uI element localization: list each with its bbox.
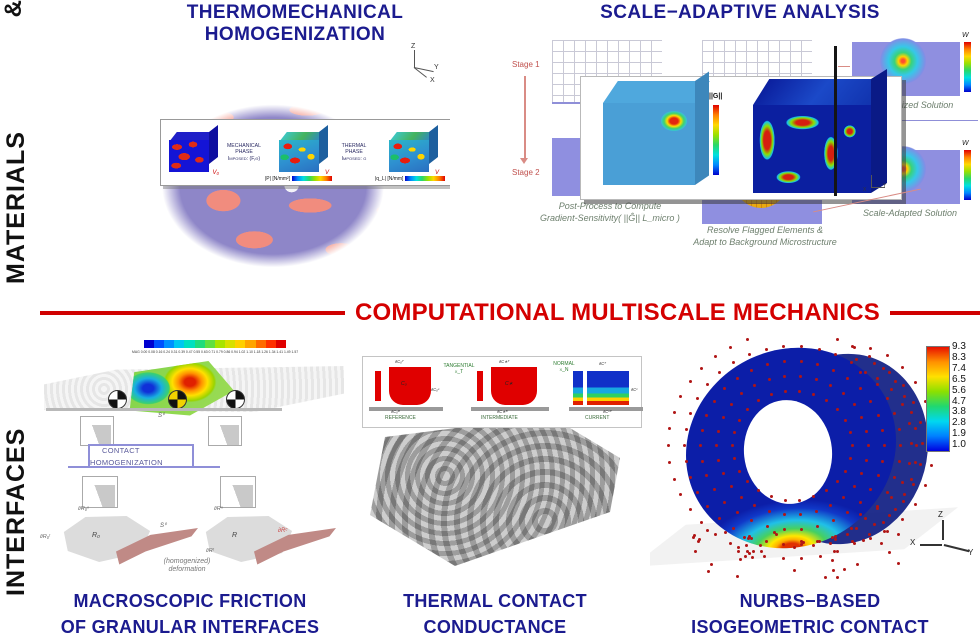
control-point: [865, 459, 868, 462]
control-point: [898, 428, 901, 431]
panel-thermomechanical-homogenization: Z Y X V₀ MECHANICAL PHASE Imposed: (F,θ): [100, 26, 450, 291]
control-point: [831, 559, 834, 562]
contact-pressure-colorbar: [144, 340, 286, 348]
control-point: [910, 411, 913, 414]
nurbs-colorbar-tick: 1.0: [952, 440, 980, 451]
stage-flow-arrow-icon: [524, 76, 526, 160]
control-point: [869, 400, 872, 403]
mechanical-units-label: |P| [N/mm²]: [265, 176, 290, 182]
control-point: [815, 378, 818, 381]
axis-label-y-2: Y: [883, 183, 886, 189]
rve-reference-volume-label: V₀: [212, 170, 219, 176]
control-point: [894, 508, 897, 511]
control-point: [924, 484, 927, 487]
mechanical-response-cube: [275, 132, 327, 174]
control-point: [793, 569, 796, 572]
title-nurbs-isogeometric-contact: NURBS−BASED ISOGEOMETRIC CONTACT: [650, 588, 970, 640]
bt1-line2: OF GRANULAR INTERFACES: [40, 614, 340, 640]
control-point: [851, 444, 854, 447]
label-intermediate: INTERMEDIATE: [481, 415, 518, 421]
control-point: [853, 485, 856, 488]
control-point: [784, 390, 787, 393]
control-point: [729, 346, 732, 349]
stage-2-label: Stage 2: [512, 168, 540, 177]
label-contact: CONTACT: [102, 446, 140, 455]
control-point: [919, 421, 922, 424]
control-point: [836, 408, 839, 411]
axis-label-z-nurbs: Z: [938, 510, 943, 519]
bt1-line1: MACROSCOPIC FRICTION: [40, 588, 340, 614]
control-point: [893, 412, 896, 415]
control-point: [898, 460, 901, 463]
control-point: [713, 400, 716, 403]
control-point: [717, 459, 720, 462]
boundary-cur-t-label: ∂Rᵗ: [206, 548, 214, 554]
control-point: [899, 444, 902, 447]
panel-scale-adaptive-analysis: Stage 1 Stage 2 ■■■■■■■■■■■■ Post-Proces…: [512, 28, 980, 288]
control-point: [815, 510, 818, 513]
zoom-card-cubes: ||G|| Y X: [580, 76, 902, 200]
thermal-line3: Imposed: g: [327, 156, 381, 163]
title-scale-adaptive-analysis: SCALE−ADAPTIVE ANALYSIS: [555, 2, 925, 24]
control-point: [910, 478, 913, 481]
control-point: [744, 555, 747, 558]
micro-response-chart-left: [80, 416, 114, 446]
control-point: [800, 528, 803, 531]
control-point: [867, 444, 870, 447]
control-point: [692, 536, 695, 539]
control-point: [834, 538, 837, 541]
rough-surface-render: [370, 416, 620, 566]
control-point: [876, 507, 879, 510]
control-point: [733, 457, 736, 460]
reference-left-block: [375, 371, 381, 401]
axis-label-x: X: [430, 77, 435, 84]
title-thermal-contact-conductance: THERMAL CONTACT CONDUCTANCE: [360, 588, 630, 640]
control-point: [818, 348, 821, 351]
map-tangential-line2: χ_T: [439, 369, 479, 375]
control-point: [836, 338, 839, 341]
control-point: [856, 563, 859, 566]
micro-profile-chart-left: [82, 476, 118, 508]
rve-two-phase-cube: [165, 132, 217, 174]
bt2-line2: CONDUCTANCE: [360, 614, 630, 640]
axis-label-x-2: X: [863, 187, 866, 193]
control-point: [766, 363, 769, 366]
control-point: [768, 510, 771, 513]
control-point: [746, 338, 749, 341]
control-point: [722, 416, 725, 419]
control-point: [914, 461, 917, 464]
control-point: [723, 501, 726, 504]
control-point: [883, 444, 886, 447]
control-point: [886, 354, 889, 357]
control-point: [919, 463, 922, 466]
control-point: [694, 550, 697, 553]
bt3-line1: NURBS−BASED: [650, 588, 970, 614]
control-point: [888, 551, 891, 554]
control-point: [748, 353, 751, 356]
control-point: [908, 422, 911, 425]
panel-separator-bar: [834, 46, 837, 196]
control-point: [869, 537, 872, 540]
boundary-ref-t-label: ∂R₀ᵗ: [40, 534, 50, 540]
caption-post-process: Post-Process to Compute Gradient-Sensiti…: [520, 200, 700, 224]
control-point: [819, 555, 822, 558]
surface-ref-label: S⁰: [158, 412, 164, 419]
homogenized-colorbar-title: W: [962, 32, 969, 39]
control-point: [673, 411, 676, 414]
panel-nurbs-isogeometric-contact: 9.38.37.46.55.64.73.82.81.91.0 Z X Y: [650, 338, 980, 582]
control-point: [800, 557, 803, 560]
thermal-units-label: |q_L| [N/mm]: [375, 176, 403, 182]
control-point: [736, 511, 739, 514]
control-point: [894, 380, 897, 383]
control-point: [679, 395, 682, 398]
control-point: [751, 556, 754, 559]
control-point: [714, 355, 717, 358]
axis-triad-icon-right: Y X: [861, 173, 895, 195]
axis-label-y: Y: [434, 64, 439, 71]
domain-cur-label: R: [232, 532, 237, 539]
control-point: [685, 460, 688, 463]
adapted-colorbar-title: W: [962, 140, 969, 147]
control-point: [765, 540, 768, 543]
control-point: [890, 388, 893, 391]
control-point: [738, 419, 741, 422]
stage-flow-arrowhead-icon: [520, 158, 528, 164]
control-point: [784, 499, 787, 502]
grain-beachball-2-icon: [168, 390, 187, 409]
control-point: [914, 381, 917, 384]
control-point: [706, 505, 709, 508]
control-point: [757, 399, 760, 402]
control-point: [689, 508, 692, 511]
surface-cur-label: ∂Rᶜ: [278, 528, 287, 534]
deformation-line2: deformation: [132, 566, 242, 574]
panel-macroscopic-friction: MAG 0.00 0.08 0.16 0.24 0.31 0.39 0.47 0…: [40, 336, 350, 581]
bnd-ref-bot-label: ∂C₀ᴮ: [391, 409, 400, 414]
mechanical-colorbar: |P| [N/mm²]: [265, 176, 355, 182]
control-point: [890, 496, 893, 499]
bnd-int-top-label: ∂C∗ᵀ: [499, 359, 509, 364]
caption-pp-line2: Gradient-Sensitivity( ||Ĝ|| L_micro ): [520, 212, 700, 224]
control-point: [685, 428, 688, 431]
grain-beachball-1-icon: [108, 390, 127, 409]
control-point: [731, 444, 734, 447]
current-body-field: [587, 371, 629, 405]
control-point: [701, 460, 704, 463]
stage-1-label: Stage 1: [512, 60, 540, 69]
surface-ref-label-2: S⁰: [160, 522, 166, 529]
control-point: [689, 476, 692, 479]
control-point: [902, 500, 905, 503]
control-point: [886, 530, 889, 533]
control-point: [901, 403, 904, 406]
control-point: [869, 347, 872, 350]
control-point: [800, 360, 803, 363]
control-point: [768, 378, 771, 381]
banner-rule-right: [890, 311, 980, 315]
control-point: [760, 550, 763, 553]
bt2-line1: THERMAL CONTACT: [360, 588, 630, 614]
micro-response-chart-right: [208, 416, 242, 446]
control-point: [689, 412, 692, 415]
control-point: [908, 462, 911, 465]
control-point: [718, 517, 721, 520]
control-point: [876, 377, 879, 380]
control-point: [746, 408, 749, 411]
axis-label-y-nurbs: Y: [968, 548, 973, 557]
mech-line3: Imposed: (F,θ): [217, 156, 271, 163]
control-point: [783, 528, 786, 531]
control-point: [901, 366, 904, 369]
thermal-colorbar-gradient: [405, 176, 445, 181]
control-point: [782, 543, 785, 546]
control-point: [689, 380, 692, 383]
homogenization-arrow-right-icon: [192, 444, 194, 466]
control-point: [877, 414, 880, 417]
control-point: [843, 568, 846, 571]
map-tangential: TANGENTIAL χ_T: [439, 363, 479, 375]
control-point: [829, 384, 832, 387]
control-point: [765, 348, 768, 351]
control-point: [743, 536, 746, 539]
control-point: [732, 361, 735, 364]
control-point: [783, 360, 786, 363]
body-ref-label: C₀: [401, 381, 407, 387]
bnd-cur-top-label: ∂Cᵀ: [599, 361, 606, 366]
boundary-ref-n-label: ∂R₀ⁿ: [78, 506, 89, 512]
control-point: [853, 403, 856, 406]
control-point: [912, 483, 915, 486]
section-label-materials: MATERIALS: [2, 48, 31, 284]
control-point: [915, 444, 918, 447]
banner-rule-left: [40, 311, 345, 315]
axis-triad-icon: Z Y X: [400, 44, 444, 84]
title-macroscopic-friction: MACROSCOPIC FRICTION OF GRANULAR INTERFA…: [40, 588, 340, 640]
control-point: [740, 496, 743, 499]
control-point: [910, 442, 913, 445]
control-point: [706, 529, 709, 532]
control-point: [882, 367, 885, 370]
caption-homogenized-deformation: (homogenized) deformation: [132, 558, 242, 574]
domain-ref-label: R₀: [92, 532, 100, 539]
control-point: [733, 431, 736, 434]
section-label-ampersand: &: [0, 0, 28, 17]
control-point: [836, 576, 839, 579]
control-point: [770, 393, 773, 396]
control-point: [683, 444, 686, 447]
control-point: [799, 375, 802, 378]
caption-pp-line1: Post-Process to Compute: [520, 200, 700, 212]
macro-contact-line: [46, 408, 282, 411]
control-point: [707, 570, 710, 573]
control-point: [710, 563, 713, 566]
bnd-int-bot-label: ∂C∗ᴮ: [497, 409, 508, 414]
reference-rigid-base: [369, 407, 443, 411]
homogenization-bracket-2: [68, 466, 220, 468]
control-point: [722, 472, 725, 475]
bnd-ref-side-label: ∂C₀ᶜ: [431, 387, 439, 392]
control-point: [759, 544, 762, 547]
control-point: [864, 517, 867, 520]
label-current: CURRENT: [585, 415, 609, 421]
macro-cube-hotspot: [661, 111, 687, 131]
contact-configurations-card: REFERENCE C₀ ∂C₀ᵀ ∂C₀ᶜ ∂C₀ᴮ TANGENTIAL χ…: [362, 356, 642, 428]
control-point: [832, 569, 835, 572]
intermediate-body-block: [491, 367, 537, 405]
control-point: [873, 523, 876, 526]
grain-beachball-3-icon: [226, 390, 245, 409]
arrow-to-homogenized-icon: [838, 66, 850, 67]
control-point: [696, 397, 699, 400]
body-int-label: C∗: [505, 381, 513, 387]
caption-scale-adapted-solution: Scale-Adapted Solution: [848, 208, 972, 218]
micro-profile-chart-right: [220, 476, 256, 508]
label-reference: REFERENCE: [385, 415, 416, 421]
axis-triad-icon-nurbs: Z X Y: [918, 514, 976, 568]
control-point: [714, 533, 717, 536]
caption-rf-line1: Resolve Flagged Elements &: [690, 224, 840, 236]
control-point: [930, 464, 933, 467]
control-point: [873, 362, 876, 365]
intermediate-rigid-base: [471, 407, 549, 411]
control-point: [739, 558, 742, 561]
control-point: [673, 478, 676, 481]
axis-label-x-nurbs: X: [910, 538, 915, 547]
nurbs-colorbar: [926, 346, 950, 452]
control-point: [782, 557, 785, 560]
control-point: [865, 430, 868, 433]
nurbs-colorbar-tick: 6.5: [952, 375, 980, 386]
mechanical-colorbar-gradient: [292, 176, 332, 181]
control-point: [736, 575, 739, 578]
control-point: [701, 429, 704, 432]
boundary-cur-n-label: ∂Rⁿ: [214, 506, 223, 512]
current-left-field: [573, 371, 583, 405]
bnd-cur-side-label: ∂Cᶜ: [631, 387, 638, 392]
control-point: [914, 427, 917, 430]
control-point: [737, 546, 740, 549]
gradient-norm-colorbar-title: ||G||: [709, 93, 722, 100]
control-point: [732, 527, 735, 530]
control-point: [793, 546, 796, 549]
control-point: [831, 536, 834, 539]
colorbar-tick-values: 0.00 0.08 0.16 0.24 0.31 0.39 0.47 0.55 …: [141, 350, 298, 354]
control-point: [706, 383, 709, 386]
control-point: [667, 444, 670, 447]
control-point: [825, 399, 828, 402]
control-point: [859, 501, 862, 504]
control-point: [880, 542, 883, 545]
control-point: [844, 470, 847, 473]
control-point: [738, 470, 741, 473]
banner-computational-multiscale-mechanics: COMPUTATIONAL MULTISCALE MECHANICS: [40, 295, 980, 331]
control-point: [736, 377, 739, 380]
caption-resolve-flagged: Resolve Flagged Elements & Adapt to Back…: [690, 224, 840, 248]
poster-root: MATERIALS & INTERFACES THERMOMECHANICAL …: [0, 0, 980, 637]
control-point: [700, 367, 703, 370]
colorbar-title: MAG: [132, 350, 140, 354]
control-point: [705, 414, 708, 417]
banner-text: COMPUTATIONAL MULTISCALE MECHANICS: [355, 299, 880, 327]
control-point: [851, 540, 854, 543]
control-point: [668, 427, 671, 430]
control-point: [832, 369, 835, 372]
caption-rf-line2: Adapt to Background Microstructure: [690, 236, 840, 248]
control-point: [679, 493, 682, 496]
axis-label-z: Z: [411, 43, 415, 50]
control-point: [851, 345, 854, 348]
bt3-line2: ISOGEOMETRIC CONTACT: [650, 614, 970, 640]
gradient-norm-colorbar: [713, 105, 719, 175]
control-point: [730, 403, 733, 406]
control-point: [798, 499, 801, 502]
contact-colorbar-ticks: MAG 0.00 0.08 0.16 0.24 0.31 0.39 0.47 0…: [132, 350, 298, 354]
thermal-phase-step: THERMAL PHASE Imposed: g: [327, 143, 381, 163]
control-point: [717, 430, 720, 433]
deformation-line1: (homogenized): [132, 558, 242, 566]
bnd-cur-bot-label: ∂Cᶜᴾ: [603, 409, 611, 414]
reference-body-domain: [56, 514, 154, 564]
homogenized-colorbar: [964, 42, 971, 92]
control-point: [902, 384, 905, 387]
thermal-colorbar: |q_L| [N/mm]: [375, 176, 450, 182]
control-point: [753, 384, 756, 387]
control-point: [842, 496, 845, 499]
control-point: [747, 537, 750, 540]
control-point: [750, 369, 753, 372]
control-point: [886, 397, 889, 400]
control-point: [903, 395, 906, 398]
control-point: [901, 481, 904, 484]
macro-cube-render: [589, 81, 709, 196]
mechanical-phase-step: MECHANICAL PHASE Imposed: (F,θ): [217, 143, 271, 163]
control-point: [921, 442, 924, 445]
control-point: [844, 419, 847, 422]
control-point: [850, 527, 853, 530]
control-point: [897, 562, 900, 565]
control-point: [897, 533, 900, 536]
control-point: [798, 390, 801, 393]
adapted-colorbar: [964, 150, 971, 200]
nurbs-colorbar-ticks: 9.38.37.46.55.64.73.82.81.91.0: [952, 342, 980, 451]
control-point: [914, 503, 917, 506]
control-point: [715, 444, 718, 447]
thermal-response-cube: [385, 132, 437, 174]
reference-body-block: [389, 367, 431, 405]
control-point: [699, 444, 702, 447]
control-point: [668, 461, 671, 464]
control-point: [766, 525, 769, 528]
bnd-ref-top-label: ∂C₀ᵀ: [395, 359, 404, 364]
control-point: [718, 371, 721, 374]
panel-thermal-contact-conductance: REFERENCE C₀ ∂C₀ᵀ ∂C₀ᶜ ∂C₀ᴮ TANGENTIAL χ…: [350, 340, 650, 580]
nurbs-colorbar-tick: 5.6: [952, 386, 980, 397]
control-point: [730, 485, 733, 488]
intermediate-left-block: [477, 371, 483, 401]
rve-workflow-inset: V₀ MECHANICAL PHASE Imposed: (F,θ) V |P|…: [160, 119, 450, 186]
section-label-interfaces: INTERFACES: [2, 370, 31, 596]
control-point: [824, 576, 827, 579]
control-point: [802, 541, 805, 544]
control-point: [783, 375, 786, 378]
